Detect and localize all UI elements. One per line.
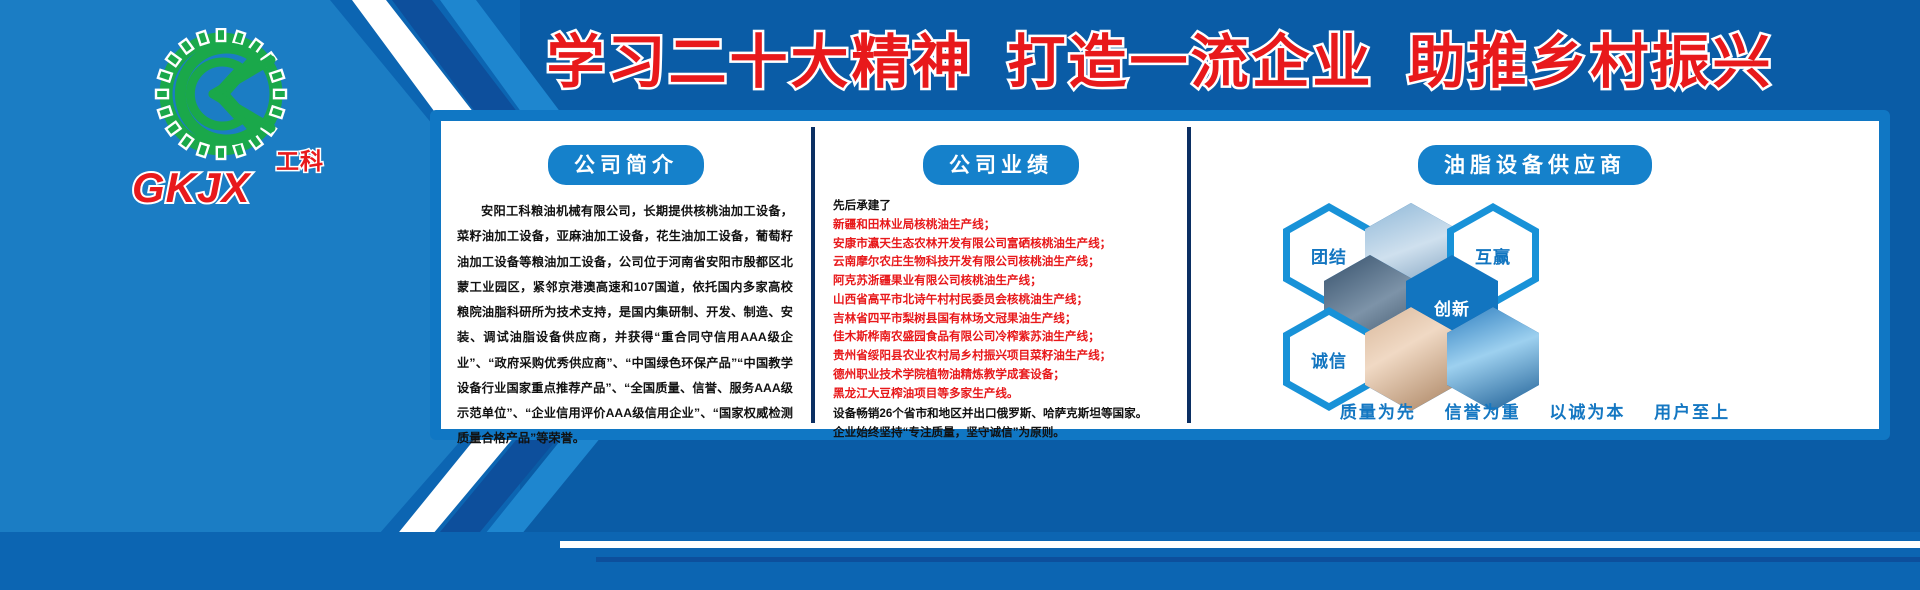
hexagon-cluster: 团结 互赢 创新 诚信	[1205, 193, 1865, 401]
headline-part-1: 学习二十大精神	[546, 15, 973, 99]
performance-tail-2: 企业始终坚持“专注质量，坚守诚信”为原则。	[833, 424, 1171, 443]
performance-tail-1: 设备畅销26个省市和地区并出口俄罗斯、哈萨克斯坦等国家。	[833, 405, 1171, 424]
list-item: 黑龙江大豆榨油项目等多家生产线。	[833, 385, 1171, 404]
content-frame: 公司简介 安阳工科粮油机械有限公司，长期提供核桃油加工设备，菜籽油加工设备，亚麻…	[430, 110, 1890, 440]
list-item: 新疆和田林业局核桃油生产线；	[833, 216, 1171, 235]
list-item: 德州职业技术学院植物油精炼教学成套设备；	[833, 366, 1171, 385]
performance-list: 先后承建了 新疆和田林业局核桃油生产线； 安康市瀛天生态农林开发有限公司富硒核桃…	[829, 193, 1173, 443]
list-item: 云南摩尔农庄生物科技开发有限公司核桃油生产线；	[833, 253, 1171, 272]
hex-integrity-label: 诚信	[1290, 315, 1368, 403]
bottom-deep-rule	[596, 557, 1920, 562]
panel-oil-equipment-supplier: 油脂设备供应商 团结 互赢 创新 诚信	[1191, 121, 1879, 429]
page-headline: 学习二十大精神 打造一流企业 助推乡村振兴	[430, 12, 1890, 102]
gear-gkjx-emblem-icon	[146, 28, 296, 168]
panel-title-supplier: 油脂设备供应商	[1418, 145, 1652, 185]
bottom-white-rule	[560, 541, 1920, 548]
panel-company-profile: 公司简介 安阳工科粮油机械有限公司，长期提供核桃油加工设备，菜籽油加工设备，亚麻…	[441, 121, 811, 429]
logo-chinese-text: 工科	[276, 142, 324, 176]
company-logo: 工科 GKJX	[128, 28, 318, 208]
list-item: 山西省高平市北诗午村村民委员会核桃油生产线；	[833, 291, 1171, 310]
headline-part-2: 打造一流企业	[1007, 15, 1373, 99]
headline-part-3: 助推乡村振兴	[1408, 15, 1774, 99]
list-item: 贵州省绥阳县农业农村局乡村振兴项目菜籽油生产线；	[833, 347, 1171, 366]
profile-body-text: 安阳工科粮油机械有限公司，长期提供核桃油加工设备，菜籽油加工设备，亚麻油加工设备…	[455, 193, 797, 452]
slogan-word-2: 信誉为重	[1445, 403, 1521, 422]
list-item: 吉林省四平市梨树县国有林场文冠果油生产线；	[833, 310, 1171, 329]
performance-lead: 先后承建了	[833, 197, 1171, 216]
list-item: 安康市瀛天生态农林开发有限公司富硒核桃油生产线；	[833, 235, 1171, 254]
supplier-slogan: 质量为先 信誉为重 以诚为本 用户至上	[1191, 398, 1879, 423]
logo-latin-text: GKJX	[132, 164, 250, 212]
hex-innovation-label: 创新	[1434, 295, 1470, 320]
slogan-word-3: 以诚为本	[1549, 403, 1625, 422]
list-item: 阿克苏浙疆果业有限公司核桃油生产线；	[833, 272, 1171, 291]
panel-company-performance: 公司业绩 先后承建了 新疆和田林业局核桃油生产线； 安康市瀛天生态农林开发有限公…	[815, 121, 1187, 429]
panel-title-performance: 公司业绩	[923, 145, 1079, 185]
slogan-word-4: 用户至上	[1654, 403, 1730, 422]
list-item: 佳木斯桦南农盛园食品有限公司冷榨紫苏油生产线；	[833, 328, 1171, 347]
slogan-word-1: 质量为先	[1340, 403, 1416, 422]
panel-title-profile: 公司简介	[548, 145, 704, 185]
